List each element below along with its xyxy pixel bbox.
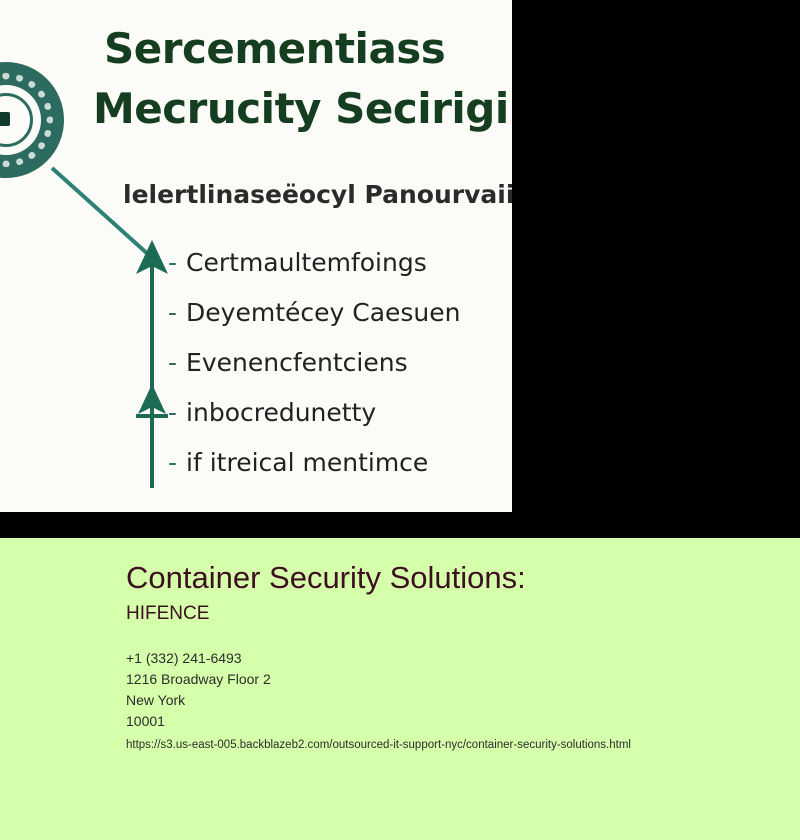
illustration-heading-line-2: Mecrucity Secirigin <box>93 88 512 130</box>
arrow-crossbar <box>136 414 168 418</box>
bullet-dash: - <box>168 398 177 427</box>
phone-number: +1 (332) 241-6493 <box>126 648 631 669</box>
list-item-label: inbocredunetty <box>186 398 376 427</box>
bullet-dash: - <box>168 448 177 477</box>
media-region: Sercementiass Mecrucity Secirigin lelert… <box>0 0 800 538</box>
postal-code: 10001 <box>126 711 631 732</box>
website-url-link[interactable]: https://s3.us-east-005.backblazeb2.com/o… <box>126 735 631 755</box>
list-item: -Certmaultemfoings <box>168 238 512 288</box>
list-item: -Deyemtécey Caesuen <box>168 288 512 338</box>
list-item: -if itreical mentimce <box>168 438 512 488</box>
list-item: -inbocredunetty <box>168 388 512 438</box>
list-item-label: Evenencfentciens <box>186 348 408 377</box>
illustration-heading-line-1: Sercementiass <box>104 28 445 70</box>
lower-arrowhead-icon <box>138 384 166 414</box>
security-seal-icon <box>0 62 64 178</box>
brand-name: HIFENCE <box>126 602 631 626</box>
illustration-panel: Sercementiass Mecrucity Secirigin lelert… <box>0 0 512 512</box>
business-info-panel: Container Security Solutions: HIFENCE +1… <box>0 538 800 840</box>
list-item-label: if itreical mentimce <box>186 448 428 477</box>
street-address: 1216 Broadway Floor 2 <box>126 669 631 690</box>
illustration-bullet-list: -Certmaultemfoings -Deyemtécey Caesuen -… <box>168 238 512 488</box>
list-item: -Evenencfentciens <box>168 338 512 388</box>
list-item-label: Certmaultemfoings <box>186 248 427 277</box>
bullet-dash: - <box>168 298 177 327</box>
city-name: New York <box>126 690 631 711</box>
seal-center-mark <box>0 112 10 126</box>
page-title: Container Security Solutions: <box>126 560 631 596</box>
bullet-dash: - <box>168 248 177 277</box>
list-item-label: Deyemtécey Caesuen <box>186 298 460 327</box>
upper-arrowhead-icon <box>136 240 168 274</box>
illustration-subheading: lelertlinaseëocyl Panourvaii·suan <box>123 180 512 209</box>
business-info-content: Container Security Solutions: HIFENCE +1… <box>126 560 631 755</box>
bullet-dash: - <box>168 348 177 377</box>
